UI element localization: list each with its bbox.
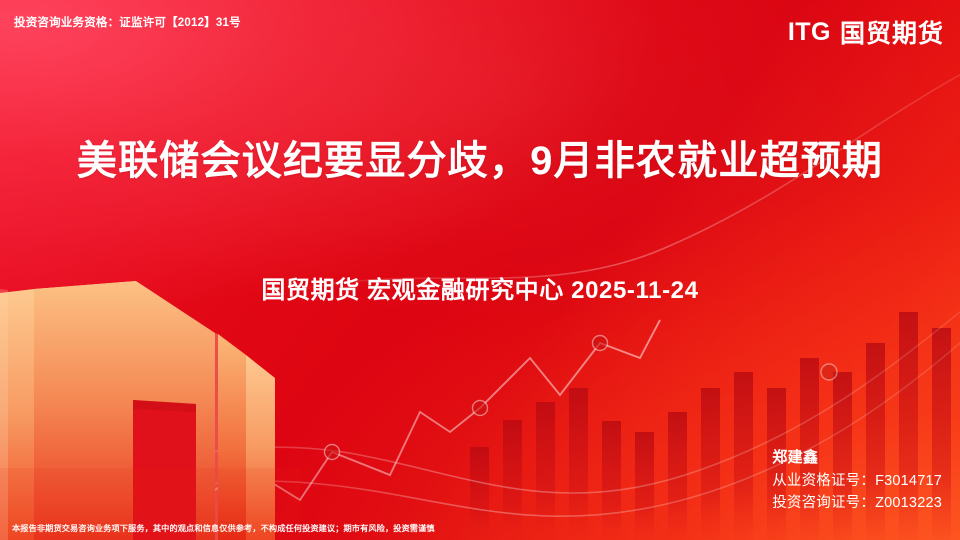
analyst-consulting-license: 投资咨询证号：Z0013223 [772, 492, 942, 514]
company-logo: ITG 国贸期货 [788, 14, 944, 50]
analyst-practice-license: 从业资格证号：F3014717 [772, 470, 942, 492]
presentation-slide: 投资咨询业务资格：证监许可【2012】31号 ITG 国贸期货 美联储会议纪要显… [0, 0, 960, 540]
logo-itg-mark: ITG [788, 18, 831, 47]
logo-company-name: 国贸期货 [840, 14, 944, 50]
qualification-text: 投资咨询业务资格：证监许可【2012】31号 [14, 14, 241, 30]
disclaimer-text: 本报告非期货交易咨询业务项下服务，其中的观点和信息仅供参考，不构成任何投资建议；… [12, 522, 435, 534]
analyst-name: 郑建鑫 [772, 447, 942, 470]
page-title: 美联储会议纪要显分歧，9月非农就业超预期 [0, 136, 960, 186]
analyst-info: 郑建鑫 从业资格证号：F3014717 投资咨询证号：Z0013223 [772, 447, 942, 514]
page-subtitle: 国贸期货 宏观金融研究中心 2025-11-24 [0, 270, 960, 305]
